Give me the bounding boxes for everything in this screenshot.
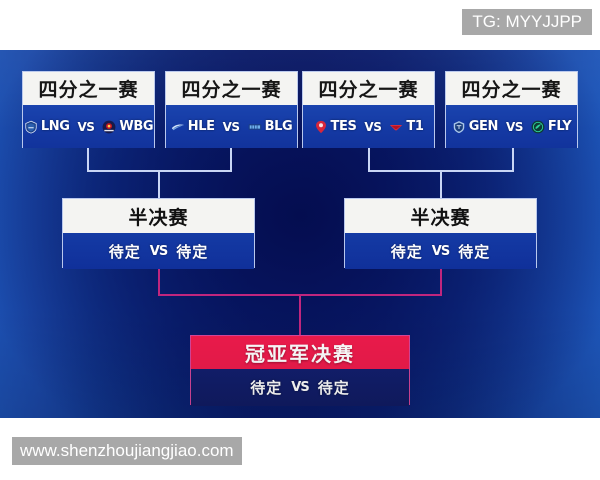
semifinal-2-teams-row: 待定 VS 待定: [391, 241, 490, 262]
final-team2: 待定: [318, 377, 350, 398]
connector-qf3-stem: [368, 148, 370, 172]
connector-sf1-stem: [158, 170, 160, 198]
semifinal-2-team1: 待定: [391, 241, 423, 262]
fly-logo-icon: [531, 120, 545, 134]
final-teams: 待定 VS 待定: [191, 369, 409, 406]
team-fly: FLY: [531, 119, 571, 134]
team-wbg-name: WBG: [119, 119, 153, 134]
connector-sf2-to-final-stem: [440, 268, 442, 296]
connector-qf1-stem: [87, 148, 89, 172]
quarterfinal-2-title: 四分之一赛: [166, 72, 297, 105]
quarterfinal-4-title: 四分之一赛: [446, 72, 577, 105]
team-t1: T1: [389, 119, 423, 134]
team-t1-name: T1: [406, 119, 423, 134]
watermark-top-text: TG: MYYJJPP: [472, 12, 582, 32]
team-tes: TES: [314, 119, 357, 134]
connector-qf2-stem: [230, 148, 232, 172]
team-gen-name: GEN: [469, 119, 498, 134]
final-vs: VS: [291, 380, 308, 395]
tes-logo-icon: [314, 120, 328, 134]
semifinal-2-teams: 待定 VS 待定: [345, 233, 536, 269]
watermark-bottom: www.shenzhoujiangjiao.com: [12, 437, 242, 465]
quarterfinal-1-title: 四分之一赛: [23, 72, 154, 105]
hle-logo-icon: [171, 120, 185, 134]
quarterfinal-2-vs: VS: [221, 120, 242, 134]
wbg-logo-icon: [102, 120, 116, 134]
team-blg: BLG: [248, 119, 293, 134]
connector-final-stem: [299, 294, 301, 335]
team-lng-name: LNG: [41, 119, 70, 134]
semifinal-1-team1: 待定: [109, 241, 141, 262]
team-hle-name: HLE: [188, 119, 215, 134]
final-match[interactable]: 冠亚军决赛 待定 VS 待定: [190, 335, 410, 405]
team-blg-name: BLG: [265, 119, 293, 134]
t1-logo-icon: [389, 120, 403, 134]
watermark-bottom-text: www.shenzhoujiangjiao.com: [20, 441, 234, 461]
team-wbg: WBG: [102, 119, 153, 134]
quarterfinal-3-title: 四分之一赛: [303, 72, 434, 105]
quarterfinal-4-teams: GEN VS FLY: [446, 105, 577, 148]
quarterfinal-match-4[interactable]: 四分之一赛 GEN VS FLY: [445, 71, 578, 148]
quarterfinal-4-vs: VS: [504, 120, 525, 134]
semifinal-2-vs: VS: [432, 244, 449, 259]
semifinal-match-2[interactable]: 半决赛 待定 VS 待定: [344, 198, 537, 268]
semifinal-2-title: 半决赛: [345, 199, 536, 233]
semifinal-1-title: 半决赛: [63, 199, 254, 233]
team-gen: GEN: [452, 119, 498, 134]
semifinal-1-team2: 待定: [176, 241, 208, 262]
team-hle: HLE: [171, 119, 215, 134]
semifinal-1-teams: 待定 VS 待定: [63, 233, 254, 269]
final-title: 冠亚军决赛: [191, 336, 409, 369]
team-lng: LNG: [24, 119, 70, 134]
team-fly-name: FLY: [548, 119, 571, 134]
blg-logo-icon: [248, 120, 262, 134]
quarterfinal-match-1[interactable]: 四分之一赛 LNG VS WBG: [22, 71, 155, 148]
quarterfinal-3-vs: VS: [362, 120, 383, 134]
semifinal-1-vs: VS: [150, 244, 167, 259]
quarterfinal-1-teams: LNG VS WBG: [23, 105, 154, 148]
final-team1: 待定: [250, 377, 282, 398]
semifinal-2-team2: 待定: [458, 241, 490, 262]
final-teams-row: 待定 VS 待定: [250, 377, 349, 398]
quarterfinal-2-teams: HLE VS BLG: [166, 105, 297, 148]
gen-logo-icon: [452, 120, 466, 134]
watermark-top: TG: MYYJJPP: [462, 9, 592, 35]
team-tes-name: TES: [331, 119, 357, 134]
quarterfinal-1-vs: VS: [75, 120, 96, 134]
lng-logo-icon: [24, 120, 38, 134]
connector-sf2-stem: [440, 170, 442, 198]
bracket-stage: 四分之一赛 LNG VS WBG: [0, 50, 600, 418]
semifinal-match-1[interactable]: 半决赛 待定 VS 待定: [62, 198, 255, 268]
connector-qf4-stem: [512, 148, 514, 172]
quarterfinal-match-2[interactable]: 四分之一赛 HLE VS BLG: [165, 71, 298, 148]
semifinal-1-teams-row: 待定 VS 待定: [109, 241, 208, 262]
quarterfinal-3-teams: TES VS T1: [303, 105, 434, 148]
connector-sf1-to-final-stem: [158, 268, 160, 296]
quarterfinal-match-3[interactable]: 四分之一赛 TES VS T1: [302, 71, 435, 148]
